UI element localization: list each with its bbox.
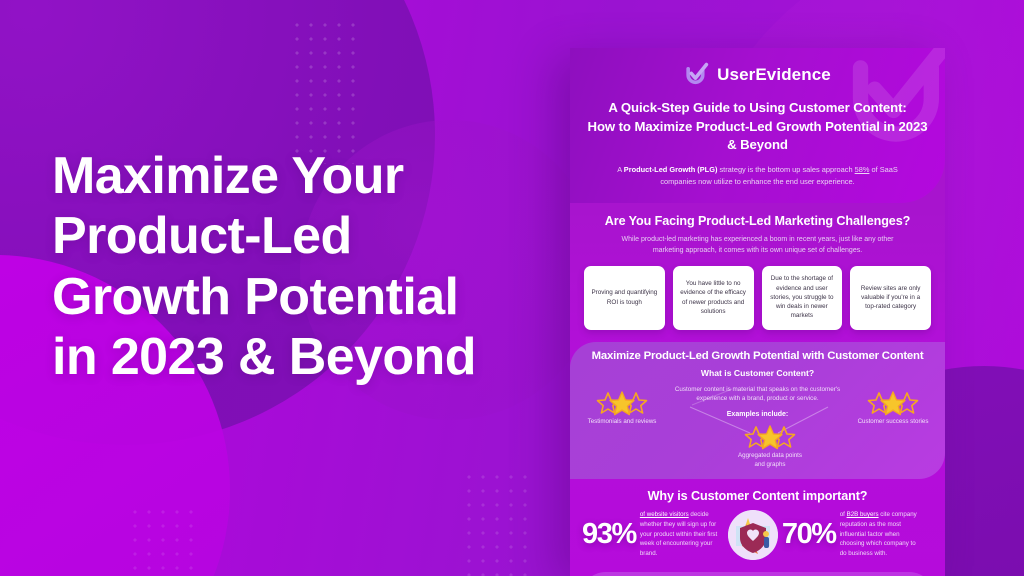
panel-item-label: Aggregated data points and graphs — [732, 452, 808, 470]
why-heading: Why is Customer Content important? — [582, 489, 933, 503]
headline-line-4: in 2023 & Beyond — [52, 327, 567, 387]
lede-pre: A — [617, 165, 624, 174]
challenge-card-text: Due to the shortage of evidence and user… — [767, 274, 838, 321]
checkmark-watermark-icon — [843, 48, 945, 160]
challenge-card-text: Proving and quantifying ROI is tough — [589, 288, 660, 307]
challenge-card: Proving and quantifying ROI is tough — [584, 266, 665, 330]
dot-grid-pattern-bottom — [462, 470, 534, 576]
challenges-heading: Are You Facing Product-Led Marketing Cha… — [584, 214, 931, 228]
dot-grid-pattern-bottom-left — [128, 505, 200, 575]
infographic-card: UserEvidence A Quick-Step Guide to Using… — [570, 48, 945, 576]
challenge-card: Due to the shortage of evidence and user… — [762, 266, 843, 330]
panel-item-success-stories: Customer success stories — [855, 391, 931, 427]
panel-heading: Maximize Product-Led Growth Potential wi… — [582, 350, 933, 362]
why-stat-text: of website visitors decide whether they … — [640, 510, 724, 558]
challenge-card-text: Review sites are only valuable if you're… — [855, 284, 926, 312]
headline-line-3: Growth Potential — [52, 267, 567, 327]
headline-line-2: Product-Led — [52, 206, 567, 266]
stars-icon — [584, 391, 660, 417]
infographic-header: UserEvidence A Quick-Step Guide to Using… — [570, 48, 945, 203]
brand-name: UserEvidence — [717, 65, 831, 85]
slide-canvas: Maximize Your Product-Led Growth Potenti… — [0, 0, 1024, 576]
lede-bold: Product-Led Growth (PLG) — [624, 165, 718, 174]
why-stat-value: 70% — [782, 520, 836, 549]
stars-icon — [732, 425, 808, 451]
lede-stat-link[interactable]: 58% — [855, 165, 870, 174]
dot-grid-pattern-top — [290, 18, 362, 164]
why-section: Why is Customer Content important? 93% o… — [570, 479, 945, 564]
panel-item-testimonials: Testimonials and reviews — [584, 391, 660, 427]
challenges-sub: While product-led marketing has experien… — [607, 234, 909, 256]
why-stat-link[interactable]: B2B buyers — [847, 511, 879, 518]
challenge-card-text: You have little to no evidence of the ef… — [678, 279, 749, 316]
stars-icon — [855, 391, 931, 417]
why-stat-link[interactable]: of website visitors — [640, 511, 689, 518]
panel-examples-label: Examples include: — [674, 411, 841, 418]
shield-security-icon — [728, 510, 778, 560]
challenge-cards: Proving and quantifying ROI is tough You… — [584, 266, 931, 330]
panel-item-label: Customer success stories — [855, 418, 931, 427]
why-stat-value: 93% — [582, 520, 636, 549]
panel-subheading: What is Customer Content? — [582, 368, 933, 378]
customer-content-panel: Maximize Product-Led Growth Potential wi… — [570, 342, 945, 479]
why-stat-text: of B2B buyers cite company reputation as… — [840, 510, 924, 558]
infographic-lede: A Product-Led Growth (PLG) strategy is t… — [608, 164, 908, 187]
check-swoosh-icon — [684, 62, 710, 88]
challenge-card: You have little to no evidence of the ef… — [673, 266, 754, 330]
why-stats-row: 93% of website visitors decide whether t… — [582, 510, 933, 560]
panel-item-aggregated-data: Aggregated data points and graphs — [732, 425, 808, 470]
panel-body: Customer content is material that speaks… — [582, 381, 933, 469]
panel-description: Customer content is material that speaks… — [674, 385, 841, 405]
headline-line-1: Maximize Your — [52, 146, 567, 206]
adding-content-band: Adding customer content to your website … — [580, 572, 935, 576]
challenges-section: Are You Facing Product-Led Marketing Cha… — [570, 203, 945, 329]
page-title: Maximize Your Product-Led Growth Potenti… — [52, 146, 567, 387]
panel-item-label: Testimonials and reviews — [584, 418, 660, 427]
lede-mid: strategy is the bottom up sales approach — [717, 165, 854, 174]
challenge-card: Review sites are only valuable if you're… — [850, 266, 931, 330]
why-stat-pre: of — [840, 511, 847, 518]
